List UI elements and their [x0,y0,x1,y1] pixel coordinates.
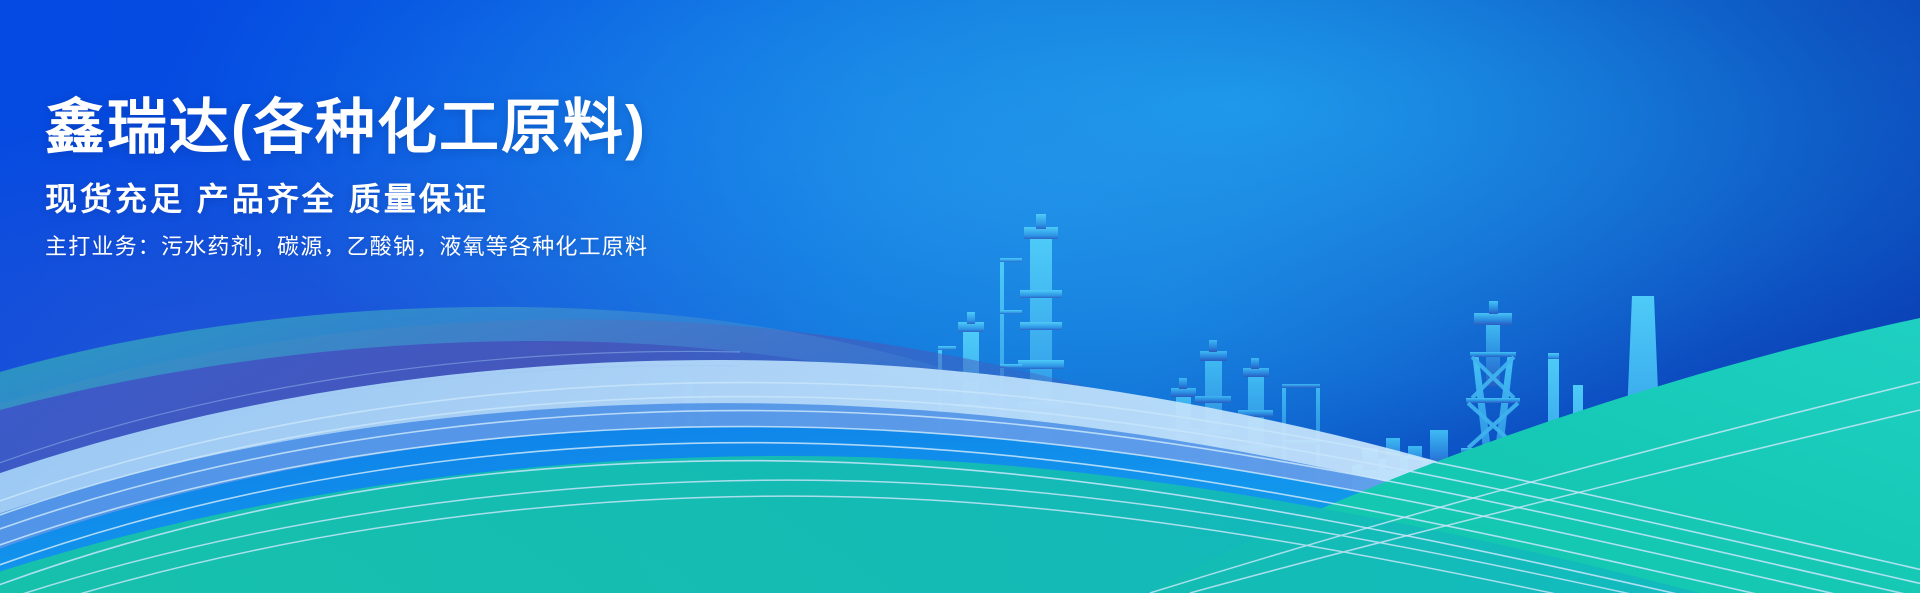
promo-banner: 鑫瑞达(各种化工原料) 现货充足 产品齐全 质量保证 主打业务：污水药剂，碳源，… [0,0,1920,593]
wave-ribbons-graphic [0,0,1920,593]
headline-block: 鑫瑞达(各种化工原料) 现货充足 产品齐全 质量保证 主打业务：污水药剂，碳源，… [45,96,648,259]
value-proposition-subtitle: 现货充足 产品齐全 质量保证 [45,182,648,217]
company-title: 鑫瑞达(各种化工原料) [45,96,648,160]
business-scope-tagline: 主打业务：污水药剂，碳源，乙酸钠，液氧等各种化工原料 [45,235,648,259]
